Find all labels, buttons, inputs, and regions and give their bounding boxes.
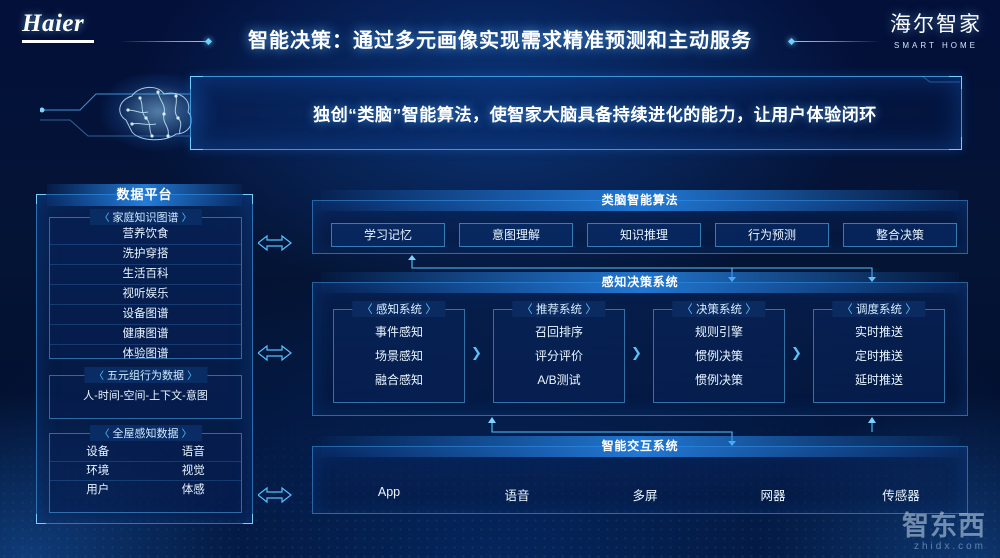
list-item[interactable]: 设备图谱 <box>50 305 241 325</box>
chevron-right-icon: ❯ <box>471 345 482 361</box>
corner-mark-br <box>243 514 253 524</box>
list-item[interactable]: 规则引擎 <box>654 320 784 344</box>
perception-decision-title: 感知决策系统 <box>321 272 959 293</box>
angle-bracket-left-icon: 〈 <box>521 304 533 316</box>
haier-logo-text: Haier <box>22 10 84 37</box>
interaction-item[interactable]: 语音 <box>461 485 573 504</box>
smart-home-brand: 海尔智家 SMART HOME <box>890 8 982 50</box>
interaction-item[interactable]: 传感器 <box>845 485 957 504</box>
list-item[interactable]: 体感 <box>146 481 242 500</box>
five-tuple-behavior-head: 〈 五元组行为数据 〉 <box>84 367 207 383</box>
corner-mark-tr <box>243 194 253 204</box>
list-item[interactable]: 场景感知 <box>334 344 464 368</box>
whole-house-sensing-head: 〈 全屋感知数据 〉 <box>89 425 201 441</box>
list-item[interactable]: 洗护穿搭 <box>50 245 241 265</box>
decision-system-column: 〈 决策系统 〉 规则引擎 惯例决策 惯例决策 <box>653 309 785 403</box>
whole-house-sensing-label: 全屋感知数据 <box>113 428 179 440</box>
angle-bracket-right-icon: 〉 <box>745 304 757 316</box>
title-bar: 智能决策：通过多元画像实现需求精准预测和主动服务 <box>120 24 880 58</box>
brain-algorithm-section: 类脑智能算法 学习记忆 意图理解 知识推理 行为预测 整合决策 <box>312 200 968 254</box>
page-title: 智能决策：通过多元画像实现需求精准预测和主动服务 <box>120 24 880 53</box>
list-item[interactable]: 语音 <box>146 443 242 462</box>
list-item[interactable]: 延时推送 <box>814 368 944 392</box>
interaction-system-title: 智能交互系统 <box>321 436 959 457</box>
list-item[interactable]: 召回排序 <box>494 320 624 344</box>
family-knowledge-graph-block: 〈 家庭知识图谱 〉 营养饮食 洗护穿搭 生活百科 视听娱乐 设备图谱 健康图谱… <box>49 217 242 359</box>
corner-mark-tr <box>949 76 962 89</box>
column-label: 调度系统 <box>856 304 902 316</box>
data-platform-title: 数据平台 <box>47 184 242 206</box>
recommendation-system-head: 〈 推荐系统 〉 <box>512 301 605 317</box>
corner-mark-br <box>949 137 962 150</box>
scheduling-system-head: 〈 调度系统 〉 <box>832 301 925 317</box>
list-item[interactable]: 健康图谱 <box>50 325 241 345</box>
interaction-system-section: 智能交互系统 App 语音 多屏 网器 传感器 <box>312 446 968 514</box>
algorithm-pill[interactable]: 意图理解 <box>459 223 573 247</box>
list-item[interactable]: 定时推送 <box>814 344 944 368</box>
watermark: 智东西 zhidx.com <box>902 504 986 552</box>
data-platform-panel: 数据平台 〈 家庭知识图谱 〉 营养饮食 洗护穿搭 生活百科 视听娱乐 设备图谱… <box>36 194 253 524</box>
watermark-title: 智东西 <box>902 504 986 543</box>
brain-algorithm-title: 类脑智能算法 <box>321 190 959 211</box>
corner-mark-bl <box>190 137 203 150</box>
corner-mark-tl <box>36 194 46 204</box>
list-item[interactable]: 视觉 <box>146 462 242 481</box>
watermark-url: zhidx.com <box>902 541 986 552</box>
angle-bracket-right-icon: 〉 <box>187 371 197 382</box>
diagram-body: 数据平台 〈 家庭知识图谱 〉 营养饮食 洗护穿搭 生活百科 视听娱乐 设备图谱… <box>36 186 966 526</box>
angle-bracket-left-icon: 〈 <box>99 213 109 224</box>
list-item[interactable]: 事件感知 <box>334 320 464 344</box>
algorithm-pill[interactable]: 行为预测 <box>715 223 829 247</box>
interaction-item[interactable]: 多屏 <box>589 485 701 504</box>
five-tuple-behavior-label: 五元组行为数据 <box>107 370 184 382</box>
family-knowledge-graph-head: 〈 家庭知识图谱 〉 <box>89 209 201 225</box>
list-item[interactable]: 实时推送 <box>814 320 944 344</box>
list-item[interactable]: 设备 <box>50 443 146 462</box>
corner-mark-bl <box>36 514 46 524</box>
algorithm-pill[interactable]: 整合决策 <box>843 223 957 247</box>
recommendation-system-column: 〈 推荐系统 〉 召回排序 评分评价 A/B测试 <box>493 309 625 403</box>
slogan-region: 独创“类脑”智能算法，使智家大脑具备持续进化的能力，让用户体验闭环 <box>40 76 960 148</box>
interaction-item[interactable]: App <box>333 485 445 499</box>
connector-arrow-top <box>258 234 294 250</box>
angle-bracket-left-icon: 〈 <box>99 429 109 440</box>
angle-bracket-left-icon: 〈 <box>681 304 693 316</box>
list-item[interactable]: 营养饮食 <box>50 225 241 245</box>
angle-bracket-left-icon: 〈 <box>94 371 104 382</box>
column-label: 决策系统 <box>696 304 742 316</box>
column-label: 推荐系统 <box>536 304 582 316</box>
chevron-right-icon: ❯ <box>631 345 642 361</box>
brand-name-cn: 海尔智家 <box>890 8 982 38</box>
slogan-text: 独创“类脑”智能算法，使智家大脑具备持续进化的能力，让用户体验闭环 <box>191 101 961 126</box>
algorithm-pill[interactable]: 知识推理 <box>587 223 701 247</box>
chevron-right-icon: ❯ <box>791 345 802 361</box>
angle-bracket-right-icon: 〉 <box>425 304 437 316</box>
angle-bracket-left-icon: 〈 <box>841 304 853 316</box>
perception-system-column: 〈 感知系统 〉 事件感知 场景感知 融合感知 <box>333 309 465 403</box>
list-item[interactable]: 视听娱乐 <box>50 285 241 305</box>
list-item[interactable]: 惯例决策 <box>654 368 784 392</box>
connector-arrow-bottom <box>258 486 294 502</box>
angle-bracket-right-icon: 〉 <box>905 304 917 316</box>
perception-system-head: 〈 感知系统 〉 <box>352 301 445 317</box>
list-item[interactable]: 评分评价 <box>494 344 624 368</box>
column-label: 感知系统 <box>376 304 422 316</box>
family-knowledge-graph-label: 家庭知识图谱 <box>113 212 179 224</box>
algorithm-pill[interactable]: 学习记忆 <box>331 223 445 247</box>
five-tuple-behavior-block: 〈 五元组行为数据 〉 人-时间-空间-上下文-意图 <box>49 375 242 419</box>
brand-name-en: SMART HOME <box>890 41 982 50</box>
list-item[interactable]: 融合感知 <box>334 368 464 392</box>
haier-logo-underline <box>22 40 94 43</box>
decision-system-head: 〈 决策系统 〉 <box>672 301 765 317</box>
angle-bracket-right-icon: 〉 <box>182 213 192 224</box>
whole-house-sensing-block: 〈 全屋感知数据 〉 设备 语音 环境 视觉 用户 体感 <box>49 433 242 513</box>
list-item[interactable]: 环境 <box>50 462 146 481</box>
slide-canvas: Haier 海尔智家 SMART HOME 智能决策：通过多元画像实现需求精准预… <box>0 0 1000 558</box>
slogan-panel: 独创“类脑”智能算法，使智家大脑具备持续进化的能力，让用户体验闭环 <box>190 76 962 150</box>
connector-arrow-middle <box>258 344 294 360</box>
list-item[interactable]: 惯例决策 <box>654 344 784 368</box>
scheduling-system-column: 〈 调度系统 〉 实时推送 定时推送 延时推送 <box>813 309 945 403</box>
angle-bracket-right-icon: 〉 <box>585 304 597 316</box>
list-item[interactable]: 生活百科 <box>50 265 241 285</box>
corner-mark-tl <box>190 76 203 89</box>
interaction-item[interactable]: 网器 <box>717 485 829 504</box>
list-item[interactable]: 体验图谱 <box>50 345 241 364</box>
perception-decision-section: 感知决策系统 〈 感知系统 〉 事件感知 场景感知 融合感知 ❯ 〈 推荐系统 <box>312 282 968 416</box>
angle-bracket-left-icon: 〈 <box>361 304 373 316</box>
list-item[interactable]: 用户 <box>50 481 146 500</box>
haier-logo: Haier <box>22 10 94 43</box>
list-item[interactable]: A/B测试 <box>494 368 624 392</box>
angle-bracket-right-icon: 〉 <box>182 429 192 440</box>
